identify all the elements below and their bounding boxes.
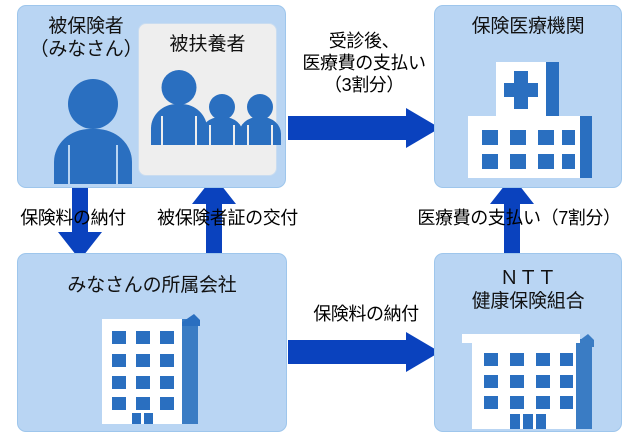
edge-label-medical-fee-payment: 医療費の支払い（7割分） bbox=[398, 207, 640, 229]
people-group-icon bbox=[139, 70, 278, 170]
person-icon bbox=[54, 79, 132, 184]
organization-building-icon bbox=[458, 331, 602, 429]
node-health-insurance-society-title: ＮＴＴ 健康保険組合 bbox=[435, 267, 621, 313]
person-icon bbox=[201, 94, 243, 145]
node-company-title: みなさんの所属会社 bbox=[18, 274, 286, 297]
edge-label-visit-payment: 受診後、 医療費の支払い （3割分） bbox=[292, 30, 436, 96]
edge-label-premium-payment-to-society: 保険料の納付 bbox=[296, 303, 436, 325]
node-health-insurance-society[interactable]: ＮＴＴ 健康保険組合 bbox=[434, 253, 622, 432]
node-company[interactable]: みなさんの所属会社 bbox=[17, 253, 287, 432]
edge-label-premium-payment-to-company: 保険料の納付 bbox=[3, 207, 143, 229]
person-icon bbox=[151, 70, 207, 145]
arrow-visit-payment bbox=[288, 108, 440, 148]
node-dependents-title: 被扶養者 bbox=[139, 33, 276, 56]
edge-label-insurance-card-issue: 被保険者証の交付 bbox=[145, 207, 310, 229]
arrow-premium-payment-to-society bbox=[288, 332, 440, 372]
node-medical-institution[interactable]: 保険医療機関 bbox=[434, 5, 622, 188]
insurance-flow-diagram: 被保険者 （みなさん） 被扶養者 bbox=[0, 0, 640, 440]
node-dependents[interactable]: 被扶養者 bbox=[138, 23, 277, 176]
node-insured[interactable]: 被保険者 （みなさん） 被扶養者 bbox=[17, 5, 286, 188]
node-medical-institution-title: 保険医療機関 bbox=[435, 15, 621, 38]
office-building-icon bbox=[94, 314, 212, 424]
hospital-icon bbox=[462, 58, 596, 180]
node-insured-title: 被保険者 （みなさん） bbox=[24, 15, 148, 61]
person-icon bbox=[239, 94, 281, 145]
